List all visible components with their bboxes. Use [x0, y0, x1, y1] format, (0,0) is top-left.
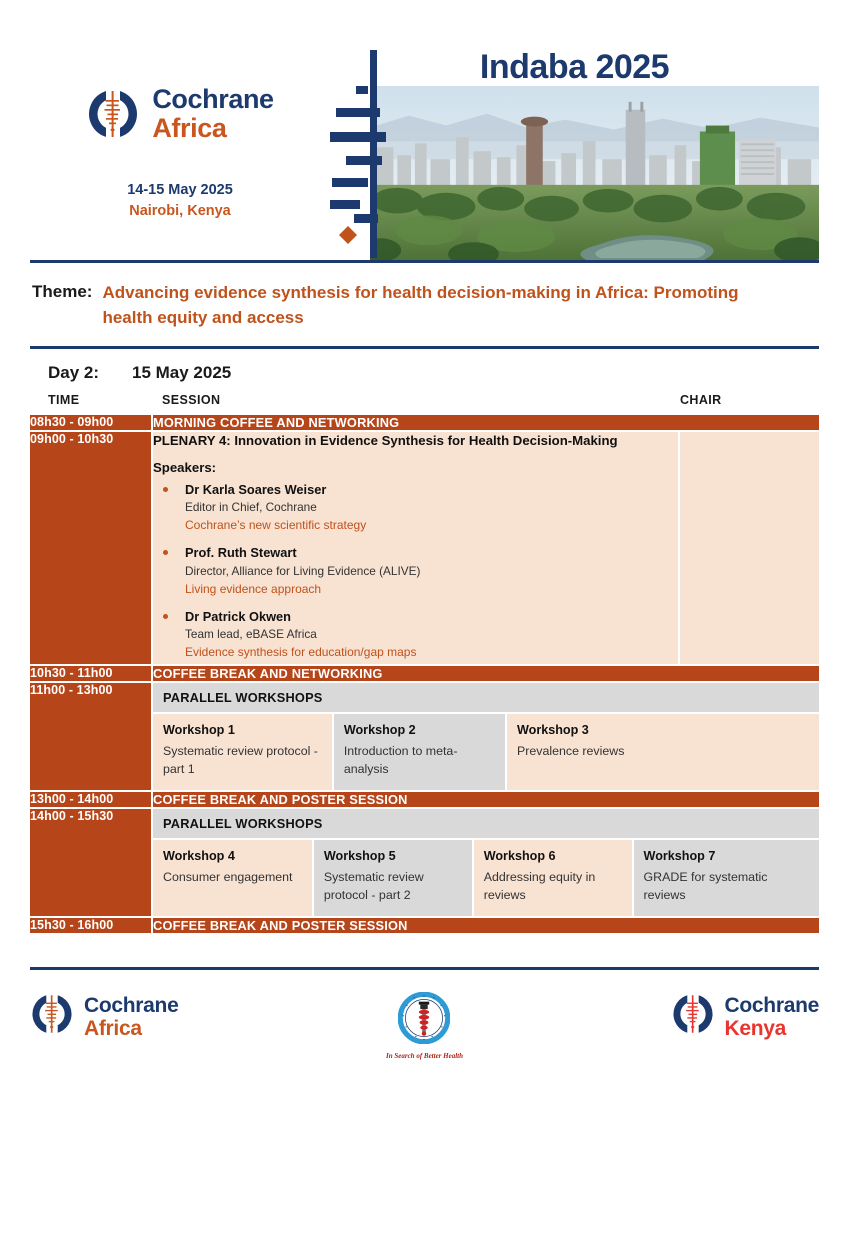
row-time: 10h30 - 11h00: [30, 666, 152, 681]
kemri-seal-icon: [398, 992, 450, 1049]
cochrane-logo-icon: [86, 87, 140, 141]
speaker-topic: Cochrane’s new scientific strategy: [185, 517, 678, 534]
table-row: 10h30 - 11h00 COFFEE BREAK AND NETWORKIN…: [30, 666, 819, 681]
speaker-role: Director, Alliance for Living Evidence (…: [185, 563, 678, 580]
row-time: 15h30 - 16h00: [30, 918, 152, 933]
cochrane-logo-icon: [671, 992, 715, 1041]
theme-label: Theme:: [32, 281, 92, 302]
speaker-name: Dr Patrick Okwen: [185, 608, 678, 625]
row-band-title: COFFEE BREAK AND NETWORKING: [152, 666, 819, 681]
row-band-title: COFFEE BREAK AND POSTER SESSION: [152, 918, 819, 933]
workshops-session-cell: PARALLEL WORKSHOPS Workshop 4 Consumer e…: [152, 809, 819, 916]
row-time: 09h00 - 10h30: [30, 432, 152, 663]
speakers-list: Dr Karla Soares Weiser Editor in Chief, …: [153, 481, 678, 662]
forest-plot-decoration-icon: [330, 50, 396, 258]
table-row: 08h30 - 09h00 MORNING COFFEE AND NETWORK…: [30, 415, 819, 430]
workshop-cell: Workshop 5 Systematic review protocol - …: [313, 839, 473, 916]
plenary-chair-cell: [679, 432, 819, 663]
footer-logo-cochrane-africa: Cochrane Africa: [30, 992, 178, 1041]
workshop-description: Consumer engagement: [163, 869, 303, 887]
plenary-session-cell: PLENARY 4: Innovation in Evidence Synthe…: [152, 432, 679, 663]
row-time: 08h30 - 09h00: [30, 415, 152, 430]
workshop-title: Workshop 1: [163, 722, 323, 738]
speaker-topic: Living evidence approach: [185, 581, 678, 598]
workshops-session-cell: PARALLEL WORKSHOPS Workshop 1 Systematic…: [152, 683, 819, 790]
footer-logo-line-1: Cochrane: [84, 995, 178, 1016]
cochrane-logo-wordmark: Cochrane Africa: [152, 86, 273, 142]
page-header: Cochrane Africa 14-15 May 2025 Nairobi, …: [30, 38, 819, 260]
workshops-heading: PARALLEL WORKSHOPS: [153, 683, 819, 712]
event-banner: Indaba 2025: [330, 38, 819, 260]
cochrane-logo-icon: [30, 992, 74, 1041]
workshop-title: Workshop 6: [484, 848, 623, 864]
day-label: Day 2:: [30, 363, 132, 383]
table-row: 14h00 - 15h30 PARALLEL WORKSHOPS Worksho…: [30, 809, 819, 916]
workshop-cell: Workshop 1 Systematic review protocol - …: [153, 713, 333, 790]
event-dates: 14-15 May 2025: [127, 180, 233, 201]
workshops-heading: PARALLEL WORKSHOPS: [153, 809, 819, 838]
footer-wordmark-africa: Cochrane Africa: [84, 995, 178, 1039]
table-row: 11h00 - 13h00 PARALLEL WORKSHOPS Worksho…: [30, 683, 819, 790]
cochrane-africa-logo: Cochrane Africa: [86, 86, 273, 142]
nairobi-skyline-photo: [370, 86, 819, 260]
workshop-description: GRADE for systematic reviews: [644, 869, 810, 905]
workshop-description: Prevalence reviews: [517, 743, 810, 761]
list-item: Dr Karla Soares Weiser Editor in Chief, …: [153, 481, 678, 535]
theme-text: Advancing evidence synthesis for health …: [102, 281, 762, 330]
footer-logo-line-2: Africa: [84, 1018, 178, 1039]
event-location: Nairobi, Kenya: [127, 201, 233, 222]
column-header-chair: CHAIR: [680, 393, 722, 407]
banner-title: Indaba 2025: [330, 48, 819, 87]
workshop-cell: Workshop 2 Introduction to meta-analysis: [333, 713, 506, 790]
workshop-description: Addressing equity in reviews: [484, 869, 623, 905]
kemri-tagline: In Search of Better Health: [386, 1052, 463, 1060]
workshop-title: Workshop 4: [163, 848, 303, 864]
footer-logo-kemri: In Search of Better Health: [386, 992, 463, 1060]
row-band-title: COFFEE BREAK AND POSTER SESSION: [152, 792, 819, 807]
row-time: 13h00 - 14h00: [30, 792, 152, 807]
header-branding: Cochrane Africa 14-15 May 2025 Nairobi, …: [30, 38, 330, 260]
table-row: 15h30 - 16h00 COFFEE BREAK AND POSTER SE…: [30, 918, 819, 933]
speaker-role: Editor in Chief, Cochrane: [185, 499, 678, 516]
row-band-title: MORNING COFFEE AND NETWORKING: [152, 415, 819, 430]
list-item: Dr Patrick Okwen Team lead, eBASE Africa…: [153, 608, 678, 662]
row-time: 14h00 - 15h30: [30, 809, 152, 916]
plenary-title: PLENARY 4: Innovation in Evidence Synthe…: [153, 432, 678, 450]
column-header-time: TIME: [48, 393, 79, 407]
footer-logo-line-1: Cochrane: [725, 995, 819, 1016]
workshop-title: Workshop 5: [324, 848, 463, 864]
footer-logo-line-2: Kenya: [725, 1018, 819, 1039]
table-row: 09h00 - 10h30 PLENARY 4: Innovation in E…: [30, 432, 819, 663]
workshops-grid: Workshop 4 Consumer engagement Workshop …: [153, 838, 819, 916]
speakers-label: Speakers:: [153, 460, 678, 475]
event-dates-block: 14-15 May 2025 Nairobi, Kenya: [127, 180, 233, 222]
schedule-table-body: 08h30 - 09h00 MORNING COFFEE AND NETWORK…: [30, 415, 819, 933]
speaker-name: Dr Karla Soares Weiser: [185, 481, 678, 498]
day-date: 15 May 2025: [132, 363, 231, 383]
row-time: 11h00 - 13h00: [30, 683, 152, 790]
theme-section: Theme: Advancing evidence synthesis for …: [30, 263, 819, 346]
workshop-title: Workshop 3: [517, 722, 810, 738]
speaker-name: Prof. Ruth Stewart: [185, 544, 678, 561]
speaker-topic: Evidence synthesis for education/gap map…: [185, 644, 678, 661]
page-footer: Cochrane Africa: [30, 970, 819, 1060]
footer-wordmark-kenya: Cochrane Kenya: [725, 995, 819, 1039]
column-header-session: SESSION: [162, 393, 220, 407]
schedule-table: 08h30 - 09h00 MORNING COFFEE AND NETWORK…: [30, 415, 819, 933]
workshop-title: Workshop 7: [644, 848, 810, 864]
programme-page: Cochrane Africa 14-15 May 2025 Nairobi, …: [0, 38, 849, 1238]
logo-line-2: Africa: [152, 115, 273, 142]
table-column-headers: TIME SESSION CHAIR: [30, 389, 819, 415]
workshop-title: Workshop 2: [344, 722, 496, 738]
speaker-role: Team lead, eBASE Africa: [185, 626, 678, 643]
day-heading: Day 2: 15 May 2025: [30, 349, 819, 389]
list-item: Prof. Ruth Stewart Director, Alliance fo…: [153, 544, 678, 598]
workshop-cell: Workshop 6 Addressing equity in reviews: [473, 839, 633, 916]
workshops-grid: Workshop 1 Systematic review protocol - …: [153, 712, 819, 790]
workshop-cell: Workshop 7 GRADE for systematic reviews: [633, 839, 819, 916]
footer-logo-cochrane-kenya: Cochrane Kenya: [671, 992, 819, 1041]
logo-line-1: Cochrane: [152, 86, 273, 113]
table-row: 13h00 - 14h00 COFFEE BREAK AND POSTER SE…: [30, 792, 819, 807]
workshop-description: Introduction to meta-analysis: [344, 743, 496, 779]
workshop-cell: Workshop 3 Prevalence reviews: [506, 713, 819, 790]
workshop-cell: Workshop 4 Consumer engagement: [153, 839, 313, 916]
workshop-description: Systematic review protocol - part 1: [163, 743, 323, 779]
workshop-description: Systematic review protocol - part 2: [324, 869, 463, 905]
